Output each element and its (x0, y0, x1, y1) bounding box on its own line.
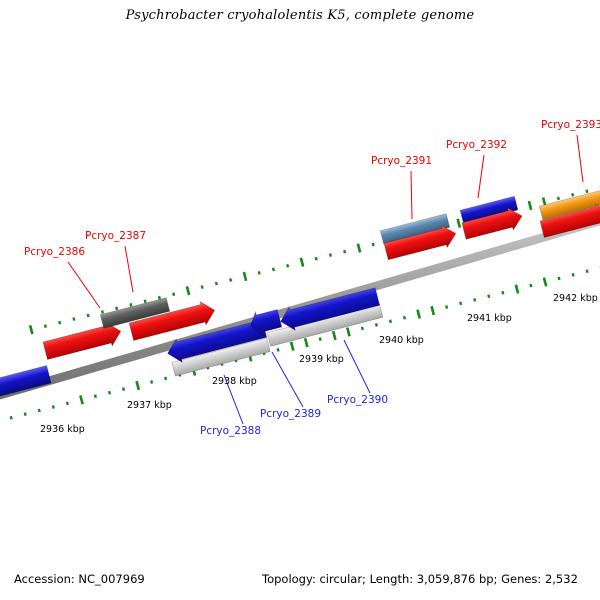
tick-mark (243, 272, 248, 281)
tick-mark (150, 380, 153, 384)
genome-map-canvas[interactable]: Pcryo_2386Pcryo_2387Pcryo_2388Pcryo_2389… (0, 0, 600, 600)
tick-mark (72, 317, 75, 321)
feature-label-Pcryo_2393[interactable]: Pcryo_2393 (541, 119, 600, 131)
feature-label-Pcryo_2392[interactable]: Pcryo_2392 (446, 139, 507, 151)
position-label-0: 2936 kbp (40, 424, 85, 435)
feature-label-Pcryo_2387[interactable]: Pcryo_2387 (85, 230, 146, 242)
tick-mark (416, 309, 421, 318)
leader-line-Pcryo_2393 (577, 135, 583, 182)
tick-mark (87, 314, 90, 318)
tick-mark (300, 258, 305, 267)
tick-mark (304, 338, 309, 347)
tick-mark (258, 271, 261, 275)
tick-mark (58, 321, 61, 325)
tick-mark (172, 292, 175, 296)
tick-mark (346, 327, 351, 336)
position-label-2: 2938 kbp (212, 376, 257, 387)
feature-label-Pcryo_2386[interactable]: Pcryo_2386 (24, 246, 85, 258)
tick-mark (135, 381, 140, 390)
tick-mark (543, 277, 548, 286)
tick-mark (445, 305, 448, 309)
tick-mark (403, 316, 406, 320)
tick-mark (215, 282, 218, 286)
position-label-3: 2939 kbp (299, 354, 344, 365)
leader-line-Pcryo_2390 (344, 340, 370, 393)
tick-mark (375, 323, 378, 327)
tick-mark (10, 416, 13, 420)
tick-mark (557, 277, 560, 281)
tick-mark (319, 337, 322, 341)
tick-mark (201, 285, 204, 289)
leader-line-Pcryo_2386 (68, 262, 100, 308)
tick-mark (286, 264, 289, 268)
tick-mark (186, 286, 191, 295)
tick-mark (473, 298, 476, 302)
tick-mark (52, 405, 55, 409)
tick-mark (24, 412, 27, 416)
tick-mark (357, 243, 362, 252)
tick-mark (329, 253, 332, 257)
tick-mark (94, 394, 97, 398)
position-label-5: 2941 kbp (467, 313, 512, 324)
tick-mark (557, 197, 560, 201)
tick-mark (29, 325, 34, 334)
position-label-1: 2937 kbp (127, 400, 172, 411)
accession-label: Accession: NC_007969 (14, 572, 145, 586)
tick-mark (430, 306, 435, 315)
tick-mark (315, 257, 318, 261)
feature-label-layer[interactable]: Pcryo_2386Pcryo_2387Pcryo_2388Pcryo_2389… (24, 119, 600, 437)
tick-mark (528, 201, 533, 210)
feature-label-Pcryo_2388[interactable]: Pcryo_2388 (200, 425, 261, 437)
tick-mark (122, 387, 125, 391)
tick-mark (456, 218, 461, 227)
genome-map-viewer: Psychrobacter cryohalolentis K5, complet… (0, 0, 600, 600)
tick-mark (372, 243, 375, 247)
tick-mark (572, 273, 575, 277)
tick-mark (101, 310, 104, 314)
leader-line-Pcryo_2387 (125, 246, 133, 292)
tick-mark (277, 348, 280, 352)
tick-mark (361, 327, 364, 331)
feature-label-Pcryo_2390[interactable]: Pcryo_2390 (327, 394, 388, 406)
tick-mark (459, 302, 462, 306)
tick-mark (501, 291, 504, 295)
tick-mark (44, 324, 47, 328)
tick-mark (229, 278, 232, 282)
tick-mark (272, 268, 275, 272)
tick-mark (585, 189, 588, 193)
tick-mark (571, 193, 574, 197)
position-label-4: 2940 kbp (379, 335, 424, 346)
leader-line-Pcryo_2391 (411, 171, 412, 219)
tick-mark (343, 250, 346, 254)
feature-label-Pcryo_2389[interactable]: Pcryo_2389 (260, 408, 321, 420)
tick-mark (164, 377, 167, 381)
tick-mark (586, 269, 589, 273)
tick-mark (66, 402, 69, 406)
genome-stats-label: Topology: circular; Length: 3,059,876 bp… (262, 572, 578, 586)
tick-mark (129, 303, 132, 307)
leader-line-Pcryo_2392 (478, 155, 484, 198)
tick-mark (389, 319, 392, 323)
position-label-6: 2942 kbp (553, 293, 598, 304)
tick-mark (332, 331, 337, 340)
leader-line-layer (68, 135, 583, 424)
tick-mark (487, 294, 490, 298)
tick-mark (79, 395, 84, 404)
tick-mark (529, 284, 532, 288)
tick-mark (515, 284, 520, 293)
tick-mark (38, 409, 41, 413)
tick-mark (290, 342, 295, 351)
tick-mark (115, 307, 118, 311)
feature-label-Pcryo_2391[interactable]: Pcryo_2391 (371, 155, 432, 167)
tick-mark (108, 391, 111, 395)
